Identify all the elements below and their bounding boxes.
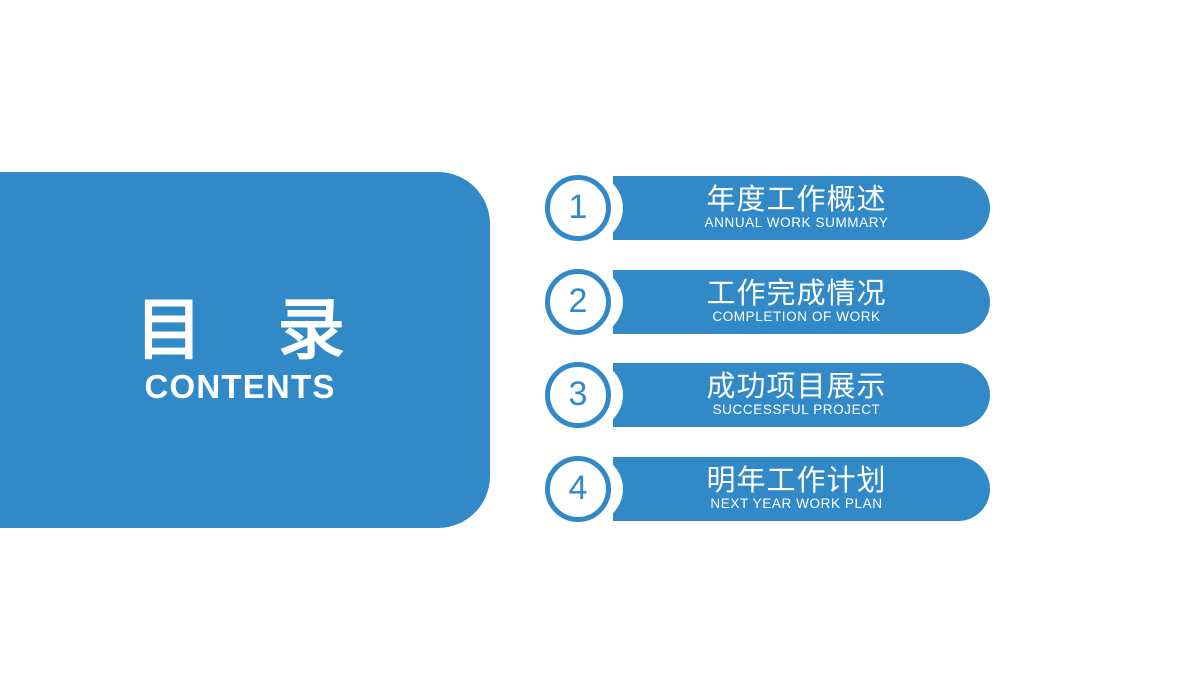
contents-item-2-bar[interactable]: 工作完成情况 COMPLETION OF WORK xyxy=(613,270,990,334)
contents-item-3[interactable]: 成功项目展示 SUCCESSFUL PROJECT 3 xyxy=(545,362,995,428)
contents-item-3-number-badge[interactable]: 3 xyxy=(545,362,611,428)
contents-item-4-number: 4 xyxy=(569,471,588,505)
contents-item-3-labels: 成功项目展示 SUCCESSFUL PROJECT xyxy=(613,363,990,427)
contents-item-3-number: 3 xyxy=(569,377,588,411)
contents-item-2-title-chinese: 工作完成情况 xyxy=(706,279,886,309)
contents-item-2-number-badge[interactable]: 2 xyxy=(545,269,611,335)
contents-item-3-title-chinese: 成功项目展示 xyxy=(706,372,886,402)
contents-item-1-labels: 年度工作概述 ANNUAL WORK SUMMARY xyxy=(613,176,990,240)
contents-list: 年度工作概述 ANNUAL WORK SUMMARY 1 工作完成情况 COMP… xyxy=(0,0,1200,675)
contents-item-4-title-chinese: 明年工作计划 xyxy=(706,466,886,496)
contents-item-3-title-english: SUCCESSFUL PROJECT xyxy=(713,403,881,418)
contents-item-4-title-english: NEXT YEAR WORK PLAN xyxy=(710,497,882,512)
contents-item-1-title-english: ANNUAL WORK SUMMARY xyxy=(705,216,889,231)
contents-item-1-title-chinese: 年度工作概述 xyxy=(706,185,886,215)
contents-item-3-bar[interactable]: 成功项目展示 SUCCESSFUL PROJECT xyxy=(613,363,990,427)
contents-item-2-title-english: COMPLETION OF WORK xyxy=(712,310,880,325)
contents-item-2-number: 2 xyxy=(569,284,588,318)
contents-item-4-number-badge[interactable]: 4 xyxy=(545,456,611,522)
presentation-slide: 目 录 CONTENTS 年度工作概述 ANNUAL WORK SUMMARY … xyxy=(0,0,1200,675)
contents-item-2[interactable]: 工作完成情况 COMPLETION OF WORK 2 xyxy=(545,269,995,335)
contents-item-2-labels: 工作完成情况 COMPLETION OF WORK xyxy=(613,270,990,334)
contents-item-1[interactable]: 年度工作概述 ANNUAL WORK SUMMARY 1 xyxy=(545,175,995,241)
contents-item-1-number: 1 xyxy=(569,190,588,224)
contents-item-1-number-badge[interactable]: 1 xyxy=(545,175,611,241)
contents-item-4[interactable]: 明年工作计划 NEXT YEAR WORK PLAN 4 xyxy=(545,456,995,522)
contents-item-4-labels: 明年工作计划 NEXT YEAR WORK PLAN xyxy=(613,457,990,521)
contents-item-1-bar[interactable]: 年度工作概述 ANNUAL WORK SUMMARY xyxy=(613,176,990,240)
contents-item-4-bar[interactable]: 明年工作计划 NEXT YEAR WORK PLAN xyxy=(613,457,990,521)
